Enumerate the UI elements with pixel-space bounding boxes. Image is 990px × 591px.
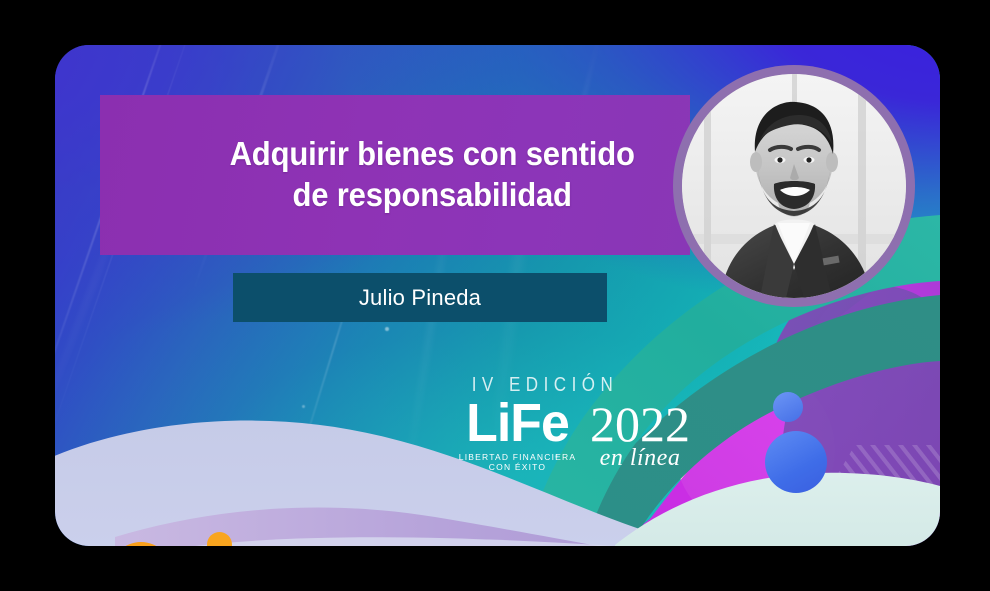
- speaker-name: Julio Pineda: [359, 285, 481, 311]
- logo-tagline-line-2: CON ÉXITO: [450, 462, 585, 473]
- slide-title-line-1: Adquirir bienes con sentido: [229, 134, 634, 175]
- portrait-illustration: [682, 74, 906, 298]
- slide-title-line-2: de responsabilidad: [229, 175, 634, 216]
- logo-tagline-line-1: LIBERTAD FINANCIERA: [450, 452, 585, 463]
- decorative-blue-circle-small: [773, 392, 803, 422]
- speaker-portrait-photo: [682, 74, 906, 298]
- logo-year-text: 2022: [590, 401, 690, 447]
- logo-mode-text: en línea: [590, 445, 690, 472]
- slide-title-banner: Adquirir bienes con sentido de responsab…: [100, 95, 690, 255]
- speaker-name-banner: Julio Pineda: [233, 273, 607, 322]
- event-logo: IV EDICIÓN LiFe LIBERTAD FINANCIERA CON …: [450, 375, 690, 490]
- logo-brand-text: LiFe: [453, 399, 583, 449]
- speaker-portrait-ring: [673, 65, 915, 307]
- decorative-blue-circle-large: [765, 431, 827, 493]
- presentation-slide-card: Adquirir bienes con sentido de responsab…: [55, 45, 940, 546]
- screenshot-canvas: Adquirir bienes con sentido de responsab…: [0, 0, 990, 591]
